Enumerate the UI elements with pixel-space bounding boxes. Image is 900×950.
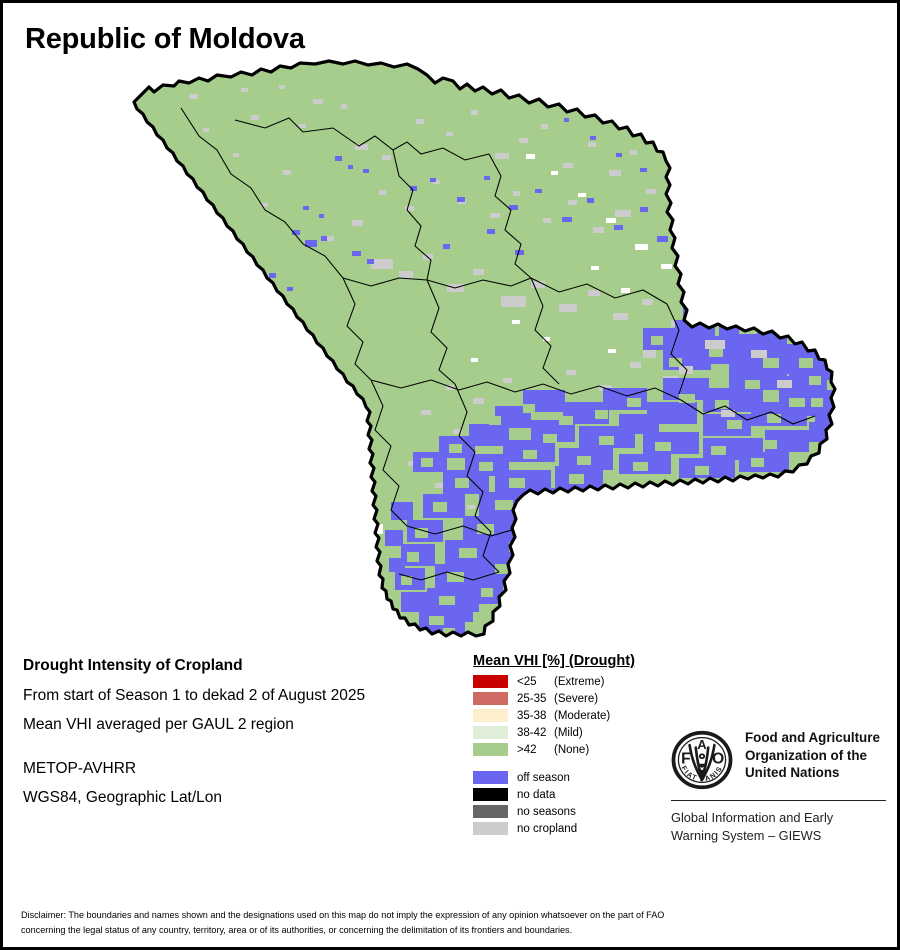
fao-header: F A O FIAT PANIS Food and Agriculture Or… — [671, 729, 886, 791]
legend-label-none: >42(None) — [517, 744, 589, 756]
map-poster: Republic of Moldova — [0, 0, 900, 950]
giews-line2: Warning System – GIEWS — [671, 827, 886, 845]
legend-swatch-no-cropland — [473, 822, 508, 835]
legend-swatch-extreme — [473, 675, 508, 688]
legend-label-mild: 38-42(Mild) — [517, 727, 583, 739]
legend-item-no-data[interactable]: no data — [473, 787, 673, 802]
legend-swatch-moderate — [473, 709, 508, 722]
disclaimer-line1: Disclaimer: The boundaries and names sho… — [21, 908, 881, 923]
moldova-map-svg[interactable] — [3, 58, 897, 638]
fao-name-line1: Food and Agriculture — [745, 729, 880, 747]
legend-spacer — [473, 759, 673, 770]
disclaimer-line2: concerning the legal status of any count… — [21, 923, 881, 938]
legend-item-no-seasons[interactable]: no seasons — [473, 804, 673, 819]
fao-logo-icon: F A O FIAT PANIS — [671, 729, 733, 791]
fao-name-line3: United Nations — [745, 764, 880, 782]
legend-label-no-seasons: no seasons — [517, 806, 576, 818]
legend-item-none[interactable]: >42(None) — [473, 742, 673, 757]
fao-name-line2: Organization of the — [745, 747, 880, 765]
fao-branding: F A O FIAT PANIS Food and Agriculture Or… — [671, 729, 886, 845]
info-sensor: METOP-AVHRR — [23, 761, 463, 777]
giews-line1: Global Information and Early — [671, 809, 886, 827]
giews-label: Global Information and Early Warning Sys… — [671, 809, 886, 845]
legend-label-no-cropland: no cropland — [517, 823, 577, 835]
legend-title: Mean VHI [%] (Drought) — [473, 653, 673, 669]
fao-divider — [671, 800, 886, 801]
page-title: Republic of Moldova — [25, 23, 305, 56]
legend-label-severe: 25-35(Severe) — [517, 693, 598, 705]
legend-label-extreme: <25(Extreme) — [517, 676, 604, 688]
legend-item-off-season[interactable]: off season — [473, 770, 673, 785]
map-info-block: Drought Intensity of Cropland From start… — [23, 658, 463, 820]
fao-letter-a: A — [697, 737, 707, 752]
legend-item-severe[interactable]: 25-35(Severe) — [473, 691, 673, 706]
info-method: Mean VHI averaged per GAUL 2 region — [23, 717, 463, 733]
info-period: From start of Season 1 to dekad 2 of Aug… — [23, 688, 463, 704]
map-canvas[interactable] — [3, 58, 897, 638]
info-spacer — [23, 747, 463, 761]
info-projection: WGS84, Geographic Lat/Lon — [23, 790, 463, 806]
legend-swatch-off-season — [473, 771, 508, 784]
disclaimer: Disclaimer: The boundaries and names sho… — [21, 908, 881, 938]
legend-swatch-severe — [473, 692, 508, 705]
legend-item-mild[interactable]: 38-42(Mild) — [473, 725, 673, 740]
legend-item-no-cropland[interactable]: no cropland — [473, 821, 673, 836]
legend-item-extreme[interactable]: <25(Extreme) — [473, 674, 673, 689]
legend-swatch-mild — [473, 726, 508, 739]
info-heading: Drought Intensity of Cropland — [23, 658, 463, 674]
legend-item-moderate[interactable]: 35-38(Moderate) — [473, 708, 673, 723]
legend-swatch-no-data — [473, 788, 508, 801]
legend-swatch-none — [473, 743, 508, 756]
legend-swatch-no-seasons — [473, 805, 508, 818]
legend-label-moderate: 35-38(Moderate) — [517, 710, 610, 722]
fao-org-name: Food and Agriculture Organization of the… — [745, 729, 880, 782]
map-legend: Mean VHI [%] (Drought) <25(Extreme) 25-3… — [473, 653, 673, 838]
legend-label-off-season: off season — [517, 772, 570, 784]
country-choropleth — [134, 61, 845, 638]
legend-label-no-data: no data — [517, 789, 555, 801]
